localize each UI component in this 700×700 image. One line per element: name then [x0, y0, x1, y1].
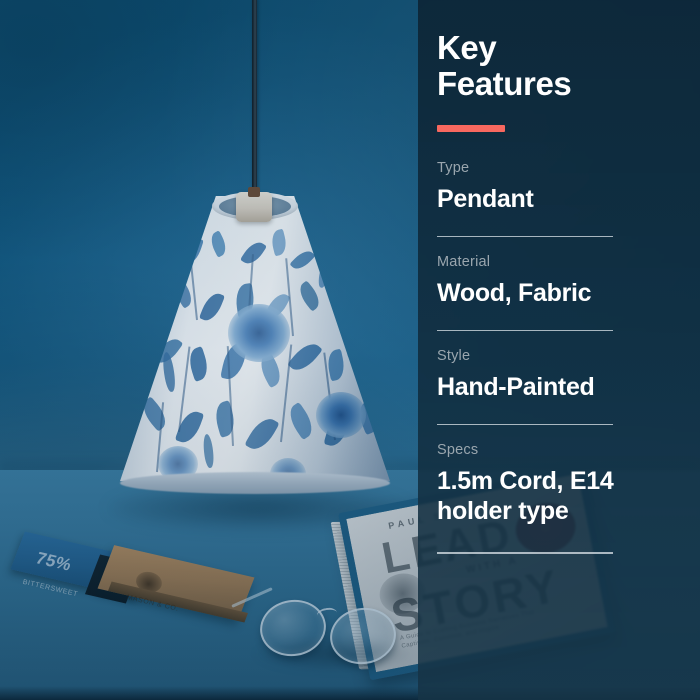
feature-label: Style	[437, 348, 675, 364]
feature-divider	[437, 424, 613, 426]
feature-value: Hand-Painted	[437, 373, 675, 403]
product-feature-card: 75% BITTERSWEET MASON & CO. PAUL SMITH L…	[0, 0, 700, 700]
feature-divider-bottom	[437, 552, 613, 554]
feature-label: Specs	[437, 442, 675, 458]
accent-underline	[437, 125, 505, 132]
key-features-panel: Key Features Type Pendant Material Wood,…	[418, 0, 700, 700]
feature-item-specs: Specs 1.5m Cord, E14 holder type	[437, 442, 675, 526]
feature-value: 1.5m Cord, E14 holder type	[437, 467, 675, 526]
feature-label: Material	[437, 254, 675, 270]
eyeglasses-prop	[258, 588, 408, 668]
feature-item-type: Type Pendant	[437, 160, 675, 215]
lampshade-rim	[120, 472, 390, 494]
feature-item-style: Style Hand-Painted	[437, 348, 675, 403]
lamp-socket	[236, 192, 272, 222]
glasses-bridge	[316, 607, 338, 622]
feature-divider	[437, 236, 613, 238]
feature-divider	[437, 330, 613, 332]
features-list: Type Pendant Material Wood, Fabric Style…	[437, 160, 675, 554]
feature-item-material: Material Wood, Fabric	[437, 254, 675, 309]
lamp-cord	[252, 0, 257, 198]
page-title: Key Features	[437, 30, 675, 101]
feature-label: Type	[437, 160, 675, 176]
feature-value: Wood, Fabric	[437, 279, 675, 309]
feature-value: Pendant	[437, 185, 675, 215]
glasses-left-lens	[256, 595, 330, 661]
